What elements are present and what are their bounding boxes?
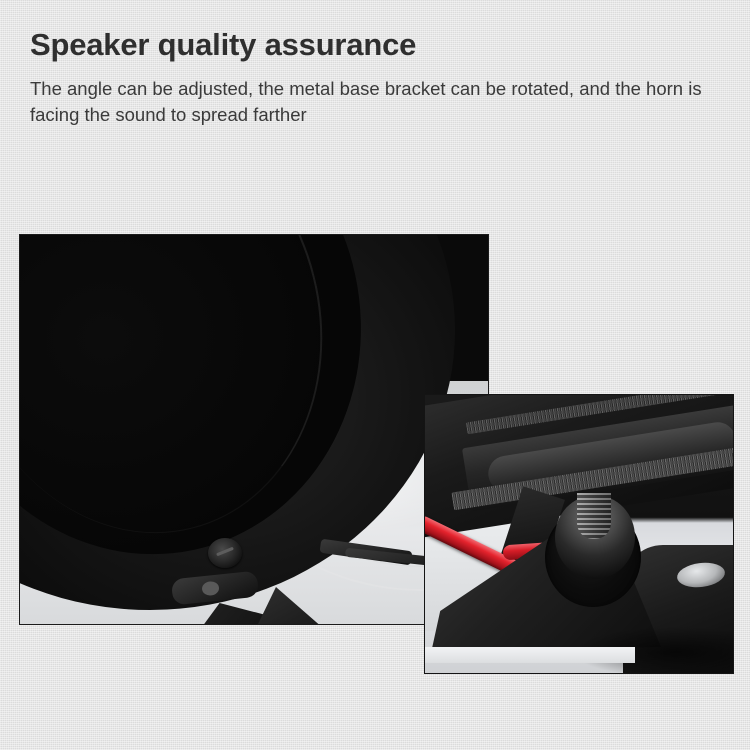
inset-photo-scene [425, 395, 733, 673]
page-title: Speaker quality assurance [30, 28, 730, 63]
header: Speaker quality assurance The angle can … [30, 28, 730, 128]
page-subtitle: The angle can be adjusted, the metal bas… [30, 76, 720, 129]
inset-floor-strip [425, 647, 635, 663]
main-photo-scene [20, 235, 488, 624]
ball-joint-screw [577, 493, 611, 539]
product-photo-main [19, 234, 489, 625]
horn-screw [208, 538, 242, 568]
product-photo-inset [424, 394, 734, 674]
